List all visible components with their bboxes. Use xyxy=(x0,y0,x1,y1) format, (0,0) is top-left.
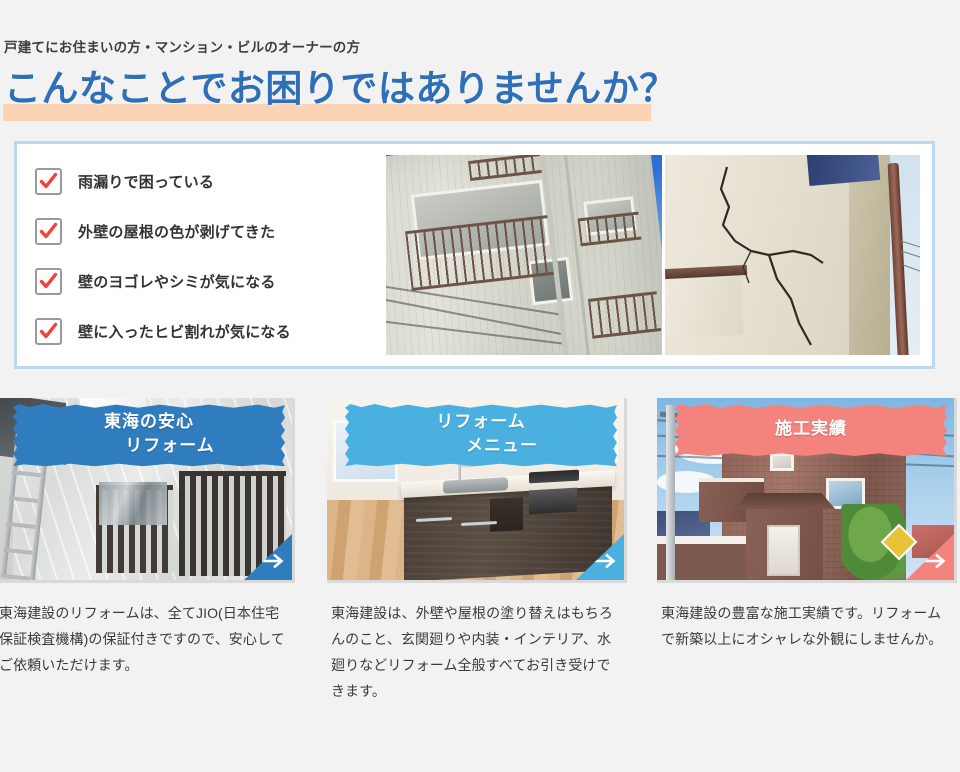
problem-photos xyxy=(386,155,920,355)
card-description: 東海建設の豊富な施工実績です。リフォームで新築以上にオシャレな外観にしませんか。 xyxy=(657,601,957,653)
problem-panel: 雨漏りで困っている 外壁の屋根の色が剥げてきた 壁のヨゴレやシミが気になる 壁に… xyxy=(14,141,935,369)
checkbox-icon[interactable] xyxy=(35,318,62,345)
checkbox-icon[interactable] xyxy=(35,268,62,295)
card-construction-results[interactable]: 施工実績 東海建設の豊富な施工実績です。リフォームで新築以上にオシャレな外観にし… xyxy=(657,398,957,653)
ribbon-line-1: 施工実績 xyxy=(775,417,847,441)
photo-cracked-wall xyxy=(665,155,920,355)
card-ribbon-title: 東海の安心 リフォーム xyxy=(13,404,285,466)
photo-weathered-building xyxy=(386,155,662,355)
card-photo[interactable]: 東海の安心 リフォーム xyxy=(0,398,295,583)
checklist-item-label: 壁のヨゴレやシミが気になる xyxy=(78,271,276,292)
hero-section: 戸建てにお住まいの方・マンション・ビルのオーナーの方 こんなことでお困りではあり… xyxy=(0,0,960,122)
ribbon-line-1: リフォーム xyxy=(436,410,526,434)
card-ribbon-title: 施工実績 xyxy=(675,404,947,456)
checklist-item[interactable]: 外壁の屋根の色が剥げてきた xyxy=(35,206,375,256)
card-anshin-reform[interactable]: 東海の安心 リフォーム 東海建設のリフォームは、全てJIO(日本住宅保証検査機構… xyxy=(0,398,295,679)
checklist-item[interactable]: 壁のヨゴレやシミが気になる xyxy=(35,256,375,306)
checklist-item-label: 壁に入ったヒビ割れが気になる xyxy=(78,321,291,342)
card-photo[interactable]: リフォーム メニュー xyxy=(327,398,627,583)
checkbox-icon[interactable] xyxy=(35,218,62,245)
card-description: 東海建設のリフォームは、全てJIO(日本住宅保証検査機構)の保証付きですので、安… xyxy=(0,601,295,679)
hero-kicker: 戸建てにお住まいの方・マンション・ビルのオーナーの方 xyxy=(4,36,360,56)
checkbox-icon[interactable] xyxy=(35,168,62,195)
feature-cards: 東海の安心 リフォーム 東海建設のリフォームは、全てJIO(日本住宅保証検査機構… xyxy=(0,398,960,772)
power-lines xyxy=(665,155,920,355)
ribbon-line-2: リフォーム xyxy=(83,434,215,458)
checklist-item[interactable]: 雨漏りで困っている xyxy=(35,156,375,206)
checklist-item-label: 雨漏りで困っている xyxy=(78,171,214,192)
card-photo[interactable]: 施工実績 xyxy=(657,398,957,583)
ribbon-line-1: 東海の安心 xyxy=(104,410,194,434)
page-title: こんなことでお困りではありませんか？ xyxy=(4,58,677,112)
card-reform-menu[interactable]: リフォーム メニュー 東海建設は、外壁や屋根の塗り替えはもちろんのこと、玄関廻り… xyxy=(327,398,627,705)
card-ribbon-title: リフォーム メニュー xyxy=(345,404,617,466)
problem-checklist: 雨漏りで困っている 外壁の屋根の色が剥げてきた 壁のヨゴレやシミが気になる 壁に… xyxy=(35,156,375,356)
card-description: 東海建設は、外壁や屋根の塗り替えはもちろんのこと、玄関廻りや内装・インテリア、水… xyxy=(327,601,627,705)
checklist-item[interactable]: 壁に入ったヒビ割れが気になる xyxy=(35,306,375,356)
checklist-item-label: 外壁の屋根の色が剥げてきた xyxy=(78,221,275,242)
ribbon-line-2: メニュー xyxy=(424,434,538,458)
